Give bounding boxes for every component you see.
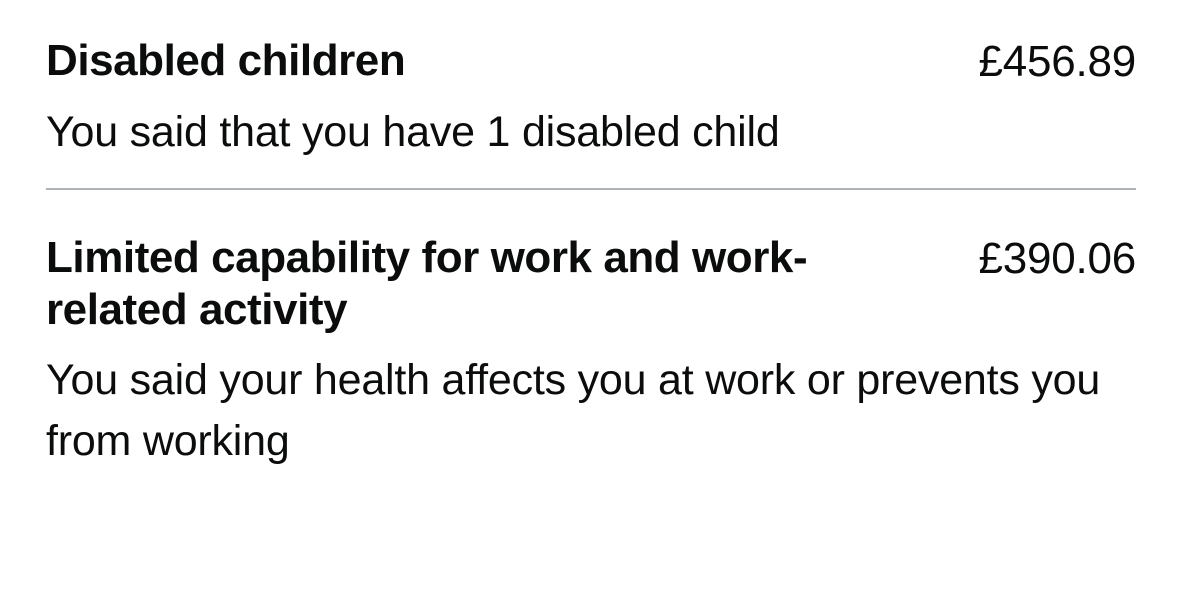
breakdown-item-limited-capability-for-work: Limited capability for work and work-rel… [46, 190, 1136, 472]
breakdown-item-amount: £390.06 [978, 232, 1136, 285]
breakdown-item-detail: You said your health affects you at work… [46, 350, 1126, 472]
breakdown-item-amount: £456.89 [978, 35, 1136, 88]
breakdown-item-header-row: Disabled children £456.89 [46, 35, 1136, 88]
payment-breakdown-panel: Disabled children £456.89 You said that … [0, 0, 1182, 600]
breakdown-item-disabled-children: Disabled children £456.89 You said that … [46, 0, 1136, 188]
breakdown-item-header-row: Limited capability for work and work-rel… [46, 232, 1136, 336]
breakdown-list: Disabled children £456.89 You said that … [46, 0, 1136, 472]
breakdown-item-name: Limited capability for work and work-rel… [46, 232, 846, 336]
breakdown-item-name: Disabled children [46, 35, 405, 87]
breakdown-item-detail: You said that you have 1 disabled child [46, 102, 1126, 163]
